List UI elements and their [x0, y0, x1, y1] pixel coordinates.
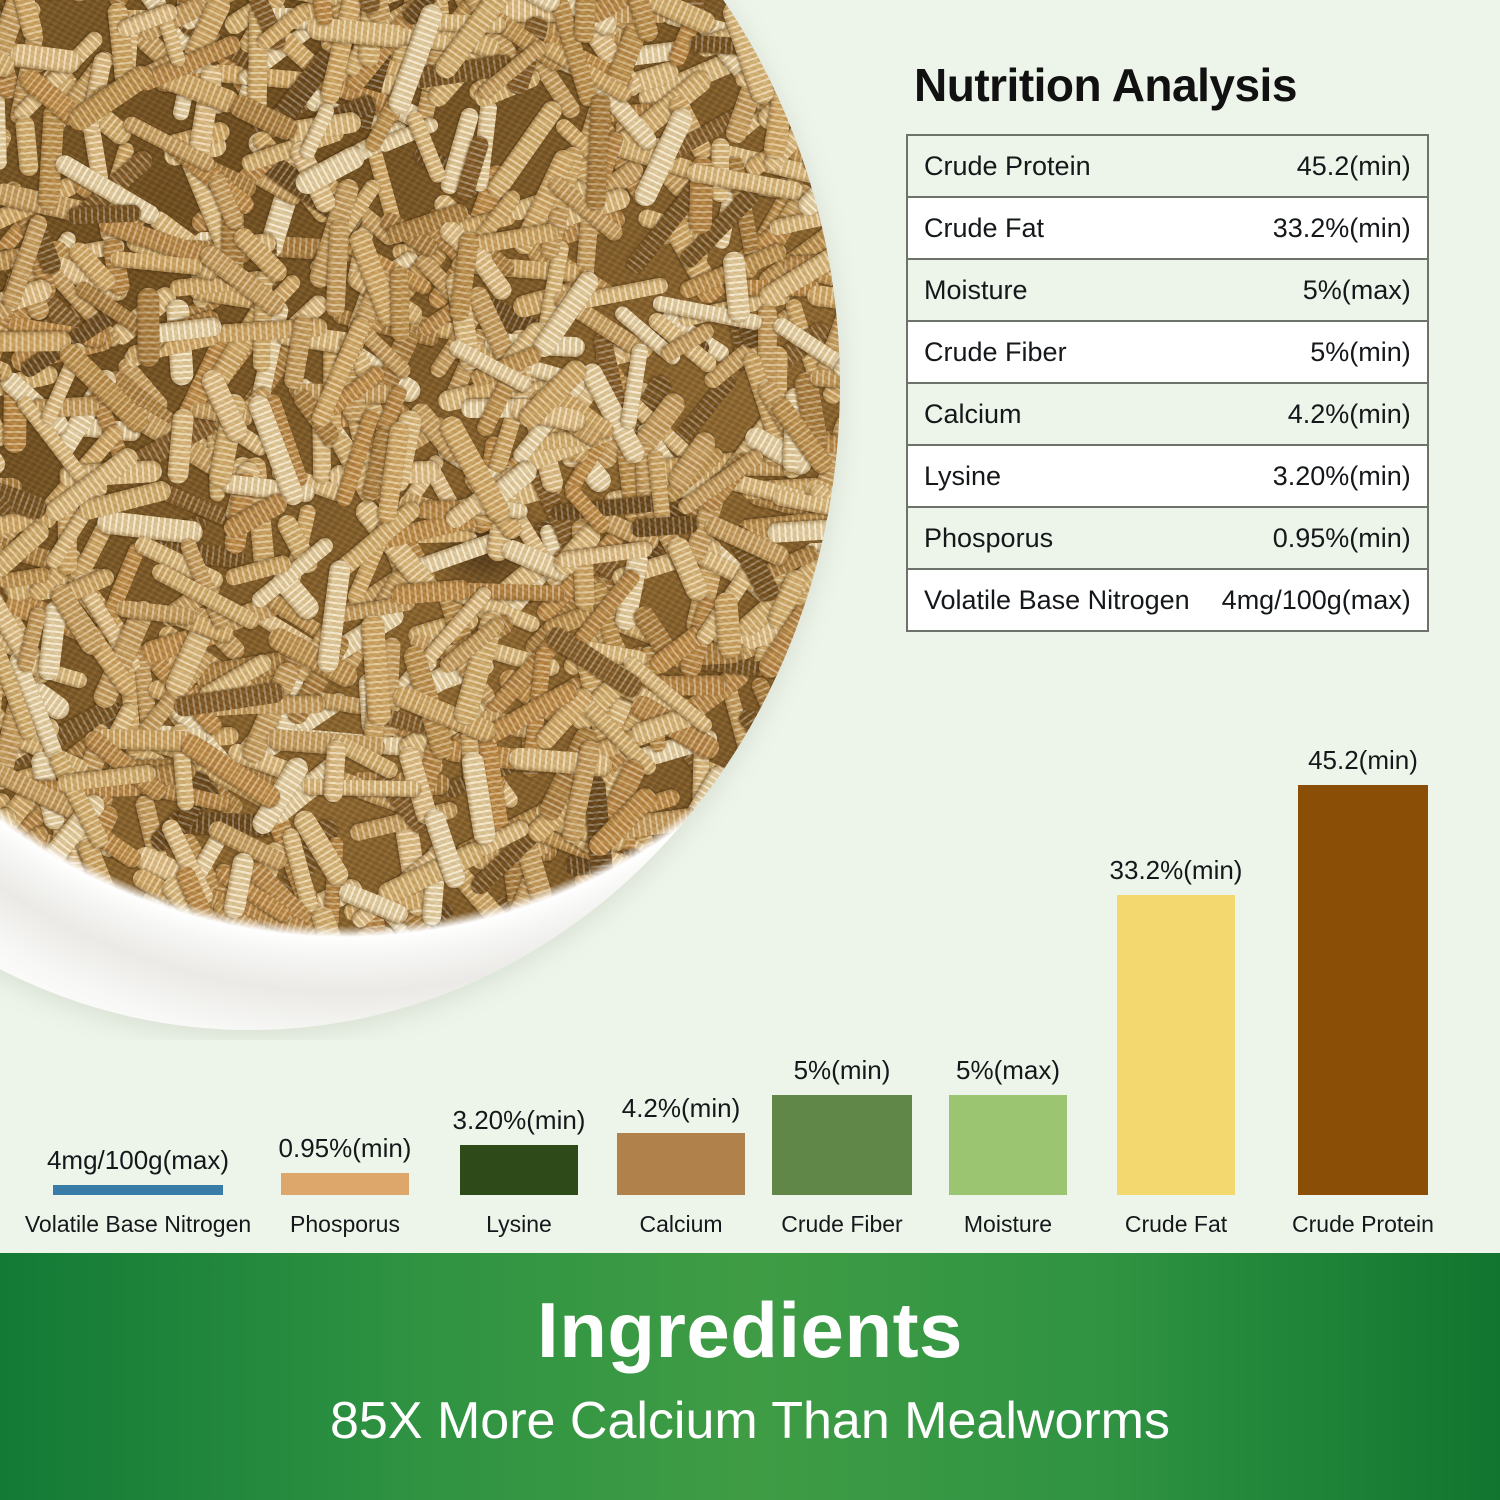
nutrient-name: Crude Fiber: [907, 321, 1206, 383]
chart-bar: [949, 1095, 1067, 1195]
page-title: Nutrition Analysis: [914, 58, 1430, 112]
nutrient-value: 0.95%(min): [1206, 507, 1428, 569]
nutrition-analysis-panel: Nutrition Analysis Crude Protein45.2(min…: [906, 58, 1430, 632]
chart-bar: [617, 1133, 745, 1195]
banner-subtitle: 85X More Calcium Than Mealworms: [0, 1369, 1500, 1447]
bar-value-label: 3.20%(min): [453, 1105, 586, 1136]
bar-category-label: Phosporus: [290, 1208, 400, 1240]
bar-category-label: Volatile Base Nitrogen: [25, 1208, 251, 1240]
nutrient-name: Volatile Base Nitrogen: [907, 569, 1206, 631]
chart-bar-group: 0.95%(min)Phosporus: [260, 640, 430, 1240]
nutrient-name: Moisture: [907, 259, 1206, 321]
ingredients-banner: Ingredients 85X More Calcium Than Mealwo…: [0, 1253, 1500, 1500]
chart-bar-group: 4.2%(min)Calcium: [596, 640, 766, 1240]
table-row: Crude Protein45.2(min): [907, 135, 1428, 197]
bar-value-label: 5%(min): [794, 1055, 891, 1086]
chart-bar: [460, 1145, 578, 1195]
banner-title: Ingredients: [0, 1253, 1500, 1369]
nutrient-name: Calcium: [907, 383, 1206, 445]
chart-bar: [281, 1173, 409, 1195]
chart-bar-group: 5%(min)Crude Fiber: [757, 640, 927, 1240]
table-row: Crude Fat33.2%(min): [907, 197, 1428, 259]
nutrient-value: 4mg/100g(max): [1206, 569, 1428, 631]
nutrition-table: Crude Protein45.2(min)Crude Fat33.2%(min…: [906, 134, 1429, 632]
bar-value-label: 4mg/100g(max): [47, 1145, 229, 1176]
table-row: Volatile Base Nitrogen4mg/100g(max): [907, 569, 1428, 631]
nutrient-value: 5%(max): [1206, 259, 1428, 321]
table-row: Phosporus0.95%(min): [907, 507, 1428, 569]
chart-bar: [772, 1095, 912, 1195]
nutrient-name: Crude Protein: [907, 135, 1206, 197]
nutrient-value: 45.2(min): [1206, 135, 1428, 197]
chart-bar: [1117, 895, 1235, 1195]
chart-bar-group: 5%(max)Moisture: [923, 640, 1093, 1240]
table-row: Lysine3.20%(min): [907, 445, 1428, 507]
chart-bar-group: 33.2%(min)Crude Fat: [1091, 640, 1261, 1240]
table-row: Moisture5%(max): [907, 259, 1428, 321]
bar-value-label: 0.95%(min): [279, 1133, 412, 1164]
bar-category-label: Crude Fiber: [781, 1208, 902, 1240]
bar-value-label: 4.2%(min): [622, 1093, 740, 1124]
chart-bar-group: 3.20%(min)Lysine: [434, 640, 604, 1240]
nutrient-value: 33.2%(min): [1206, 197, 1428, 259]
nutrient-name: Phosporus: [907, 507, 1206, 569]
bar-category-label: Calcium: [639, 1208, 722, 1240]
nutrient-value: 4.2%(min): [1206, 383, 1428, 445]
nutrient-name: Crude Fat: [907, 197, 1206, 259]
bar-category-label: Moisture: [964, 1208, 1052, 1240]
nutrient-name: Lysine: [907, 445, 1206, 507]
bar-value-label: 5%(max): [956, 1055, 1060, 1086]
table-row: Calcium4.2%(min): [907, 383, 1428, 445]
bar-value-label: 45.2(min): [1308, 745, 1418, 776]
chart-bar-group: 4mg/100g(max)Volatile Base Nitrogen: [53, 640, 223, 1240]
chart-bar: [53, 1185, 223, 1195]
nutrient-value: 3.20%(min): [1206, 445, 1428, 507]
bar-category-label: Crude Fat: [1125, 1208, 1227, 1240]
nutrition-bar-chart: 4mg/100g(max)Volatile Base Nitrogen0.95%…: [0, 640, 1500, 1240]
bar-category-label: Lysine: [486, 1208, 552, 1240]
chart-bar: [1298, 785, 1428, 1195]
chart-bar-group: 45.2(min)Crude Protein: [1278, 640, 1448, 1240]
bar-value-label: 33.2%(min): [1110, 855, 1243, 886]
bar-category-label: Crude Protein: [1292, 1208, 1434, 1240]
table-row: Crude Fiber5%(min): [907, 321, 1428, 383]
nutrient-value: 5%(min): [1206, 321, 1428, 383]
